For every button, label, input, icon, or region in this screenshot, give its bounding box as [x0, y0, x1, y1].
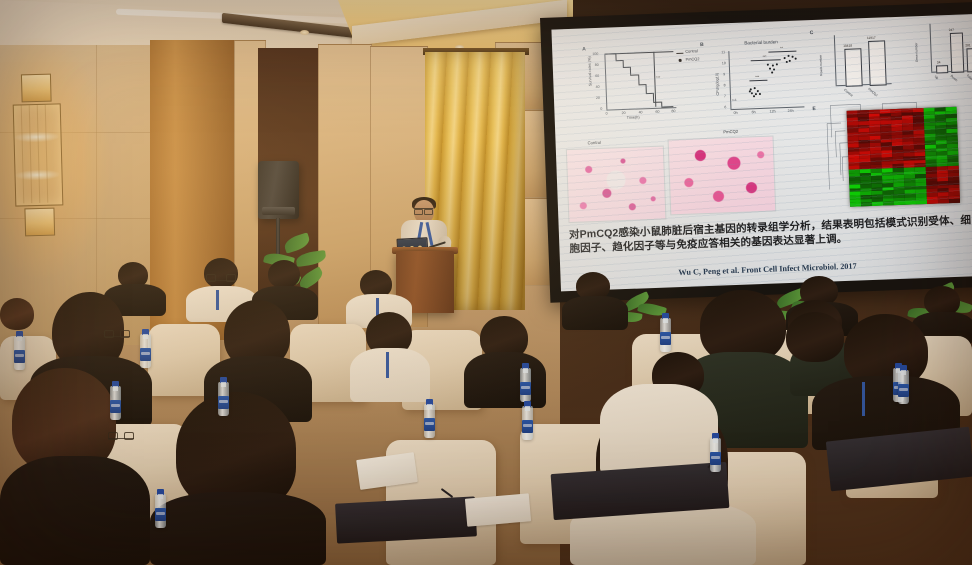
attendee-lanyard [386, 352, 389, 378]
bar [950, 33, 964, 73]
projection-screen: A 100 80 60 40 20 0 0 20 40 60 80 Surviv… [551, 14, 972, 291]
gene-expression-heatmap [847, 107, 960, 207]
water-bottle [710, 438, 721, 472]
heatmap-cell [916, 200, 927, 204]
y-axis [834, 35, 837, 85]
heatmap-cell [938, 199, 949, 203]
heatmap-cell [905, 201, 916, 205]
glasses-icon [108, 434, 134, 439]
x-tick: 40 [638, 110, 642, 114]
bar-value: 10418 [843, 44, 852, 48]
scatter-cluster [783, 55, 797, 65]
notepad [465, 493, 531, 526]
y-tick: 80 [595, 63, 599, 67]
water-bottle [140, 334, 151, 368]
y-tick: 0 [600, 107, 602, 111]
panel-letter-a: A [582, 46, 586, 52]
significance-marker: *** [755, 75, 759, 79]
x-tick: 80 [671, 109, 675, 113]
y-tick: 6 [724, 105, 726, 109]
scatter-cluster [765, 63, 779, 74]
attendee-shoulders [0, 456, 150, 565]
histology-caption-pmcq2: PmCQ2 [723, 129, 738, 135]
bar [966, 48, 972, 72]
significance-marker: *** [763, 55, 767, 59]
pa-speaker [258, 161, 299, 219]
wall-sconce [10, 73, 64, 234]
y-axis-label: Survival rates (%) [587, 56, 592, 86]
attendee-shoulders [150, 492, 326, 565]
water-bottle [218, 382, 229, 416]
y-tick: 40 [595, 85, 599, 89]
panel-letter-e: E [812, 106, 816, 112]
y-tick: 100 [592, 52, 598, 56]
y-tick: 8 [724, 83, 726, 87]
water-bottle [522, 406, 533, 440]
chart-survival-curve: 100 80 60 40 20 0 0 20 40 60 80 Survival… [590, 47, 689, 120]
attendee-head [786, 312, 844, 362]
y-tick: 10 [722, 61, 726, 65]
x-tick: 6h [752, 110, 756, 114]
x-tick: 12h [770, 109, 776, 113]
y-tick: 60 [595, 74, 599, 78]
histology-image-control [566, 146, 667, 224]
y-tick: 11 [721, 50, 725, 54]
bar [844, 48, 862, 87]
water-bottle [14, 336, 25, 370]
heatmap-cell [861, 202, 872, 206]
presentation-slide: A 100 80 60 40 20 0 0 20 40 60 80 Surviv… [551, 14, 972, 291]
x-tick: 60 [655, 110, 659, 114]
y-axis-label: Gene number [914, 43, 919, 63]
heatmap-cell [872, 202, 883, 206]
attendee-shoulders [350, 348, 430, 402]
attendee-shoulders [464, 352, 546, 408]
x-tick: 20 [621, 111, 625, 115]
y-axis [929, 24, 932, 72]
histology-image-pmcq2 [668, 136, 777, 216]
slide-citation: Wu C, Peng et al. Front Cell Infect Micr… [678, 257, 972, 277]
histology-caption-control: Control [588, 140, 602, 145]
attendee-head [204, 258, 238, 288]
water-bottle [520, 368, 531, 402]
leaf [282, 232, 311, 253]
presenter-glasses-icon [414, 208, 433, 213]
y-axis [604, 54, 607, 110]
water-bottle [155, 494, 166, 528]
y-axis-label: Reads number [819, 55, 824, 76]
bar-value: 11917 [867, 36, 876, 40]
heatmap-cell [850, 203, 861, 207]
projection-screen-frame: A 100 80 60 40 20 0 0 20 40 60 80 Surviv… [540, 2, 972, 303]
glasses-icon [206, 276, 236, 281]
heatmap-cell [927, 200, 938, 204]
bar-value: 34 [937, 60, 941, 64]
y-tick: 20 [596, 96, 600, 100]
conference-photo: A 100 80 60 40 20 0 0 20 40 60 80 Surviv… [0, 0, 972, 565]
chart-gene-number: Gene number 34 247 281 Up Down Total [913, 18, 972, 99]
chart-bacterial-burden: Bacterial burden 11 10 9 8 7 6 CFU/g(log… [712, 40, 811, 119]
panel-letter-b: B [700, 42, 704, 48]
bar [868, 40, 887, 86]
nd-marker: n.d. [732, 98, 737, 102]
x-tick: 24h [788, 109, 794, 113]
x-tick: Total [966, 73, 972, 80]
heatmap-cell [883, 201, 894, 205]
x-tick: 0 [605, 112, 607, 116]
attendee-head [0, 298, 34, 330]
y-axis [728, 51, 731, 109]
attendee-shoulders [600, 384, 718, 474]
heatmap-cell [894, 201, 905, 205]
bar-value: 281 [965, 43, 970, 47]
downlight-icon [300, 30, 309, 35]
leaf [295, 250, 327, 267]
attendee-lanyard [216, 290, 219, 310]
attendee-head [268, 260, 300, 288]
x-axis-label: Time(h) [627, 115, 640, 119]
water-bottle [898, 370, 909, 404]
bar [936, 65, 948, 73]
scatter-cluster [748, 87, 762, 98]
attendee-shoulders [562, 296, 628, 330]
attendee-lanyard [862, 382, 865, 416]
y-axis-label: CFU/g(log10) [715, 73, 720, 96]
significance-marker: *** [656, 76, 660, 80]
x-tick: Up [934, 75, 940, 81]
sconce-cap-top [21, 74, 52, 103]
water-bottle [424, 404, 435, 438]
conference-table [335, 496, 477, 543]
significance-marker: ** [780, 46, 783, 50]
legend-control: Control [685, 48, 698, 53]
sconce-cap-bottom [24, 208, 55, 237]
panel-letter-c: C [810, 30, 814, 36]
glasses-icon [104, 332, 130, 337]
x-tick: 0h [734, 111, 738, 115]
legend-pmcq2: PmCQ2 [686, 56, 700, 62]
water-bottle [660, 318, 671, 352]
y-tick: 9 [723, 72, 725, 76]
water-bottle [110, 386, 121, 420]
heatmap-cell [949, 199, 960, 203]
chart-title: Bacterial burden [734, 39, 788, 46]
y-tick: 7 [724, 94, 726, 98]
x-tick: Down [950, 74, 959, 82]
bar-value: 247 [949, 28, 954, 32]
